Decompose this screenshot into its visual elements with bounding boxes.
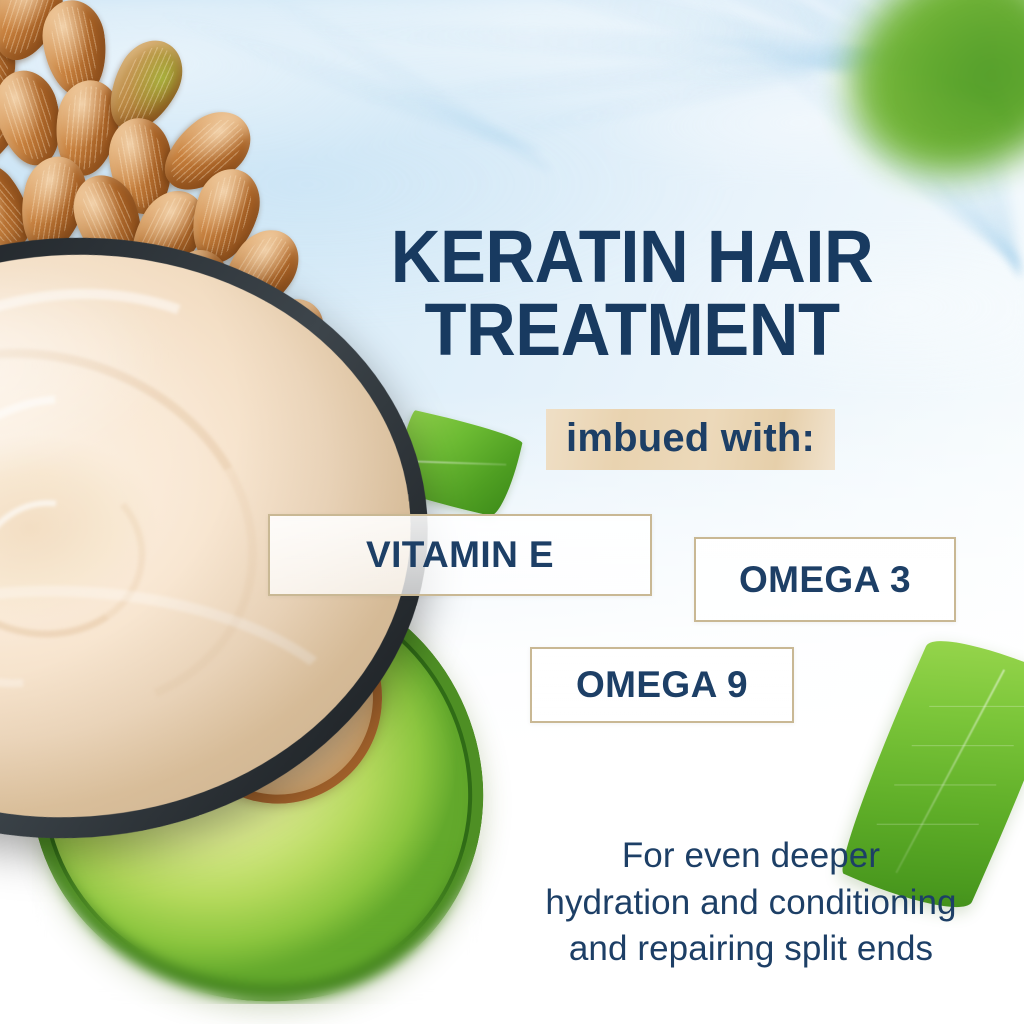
description-line-2: hydration and conditioning xyxy=(516,880,986,927)
imbued-with-label: imbued with: xyxy=(566,416,815,460)
leaf-vein xyxy=(930,706,1024,707)
title-line-1: KERATIN HAIR xyxy=(391,215,874,298)
description-line-3: and repairing split ends xyxy=(516,926,986,973)
imbued-with-banner: imbued with: xyxy=(546,409,835,470)
ingredient-label: OMEGA 3 xyxy=(739,559,911,601)
ingredient-badge-omega-3[interactable]: OMEGA 3 xyxy=(694,537,956,622)
ingredient-badge-vitamin-e[interactable]: VITAMIN E xyxy=(268,514,652,596)
page-title: KERATIN HAIR TREATMENT xyxy=(372,220,893,367)
ingredient-label: OMEGA 9 xyxy=(576,664,748,706)
product-banner: KERATIN HAIR TREATMENT imbued with: VITA… xyxy=(0,0,1024,1024)
ingredient-label: VITAMIN E xyxy=(366,534,554,576)
leaf-vein xyxy=(877,824,979,825)
description-line-1: For even deeper xyxy=(516,833,986,880)
leaf-vein xyxy=(912,745,1014,746)
leaf-vein xyxy=(895,784,997,785)
ingredient-badge-omega-9[interactable]: OMEGA 9 xyxy=(530,647,794,723)
title-line-2: TREATMENT xyxy=(372,293,893,366)
description-text: For even deeper hydration and conditioni… xyxy=(516,833,986,973)
imbued-band-background: imbued with: xyxy=(546,409,835,470)
